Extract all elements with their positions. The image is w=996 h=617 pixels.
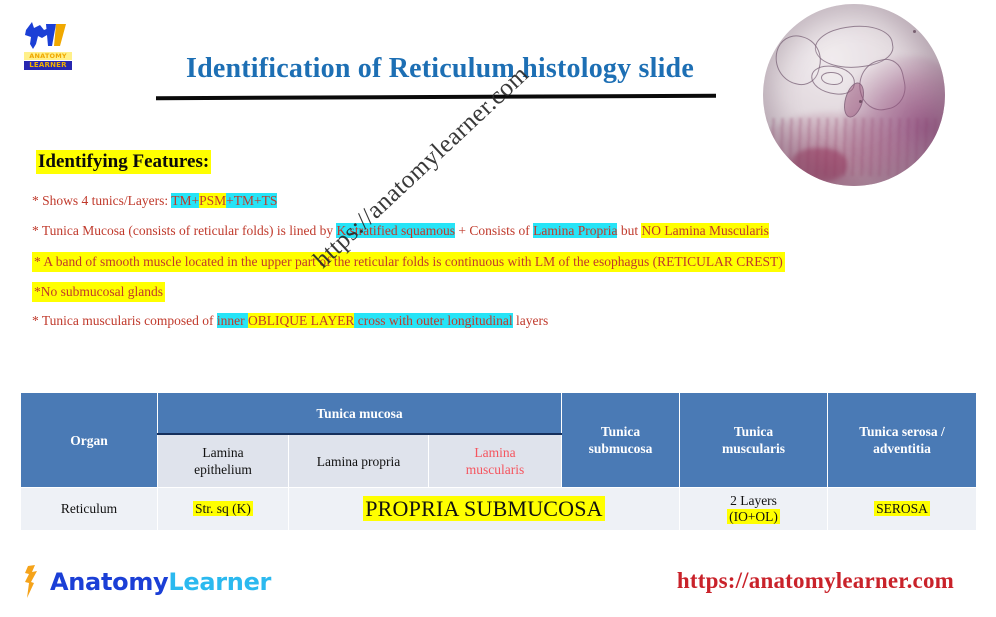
feature-segment-2-1: * Tunica Mucosa (consists of reticular f… xyxy=(32,223,336,238)
subheader-lamina-epithelium: Lamina epithelium xyxy=(158,434,289,488)
page-title: Identification of Reticulum histology sl… xyxy=(140,53,740,85)
header-organ: Organ xyxy=(21,393,158,488)
footer-logo-anatomy: Anatomy xyxy=(50,568,168,596)
cell-lamina-epithelium: Str. sq (K) xyxy=(158,488,289,531)
feature-segment-5-1: * Tunica muscularis composed of xyxy=(32,313,217,328)
cell-organ: Reticulum xyxy=(21,488,158,531)
header-tunica-serosa-adventitia: Tunica serosa / adventitia xyxy=(828,393,977,488)
feature-segment-2-2: K stratified squamous xyxy=(336,223,454,238)
brand-logo[interactable]: ANATOMY LEARNER xyxy=(16,16,72,74)
feature-line-2: * Tunica Mucosa (consists of reticular f… xyxy=(32,222,769,240)
table-header-row-1: Organ Tunica mucosa Tunica submucosa Tun… xyxy=(21,393,977,435)
feature-line-4: *No submucosal glands xyxy=(32,282,165,302)
header-tunica-mucosa: Tunica mucosa xyxy=(158,393,562,435)
table-row: Reticulum Str. sq (K) PROPRIA SUBMUCOSA … xyxy=(21,488,977,531)
feature-segment-1-2: TM+ xyxy=(171,193,199,208)
cow-silhouette-icon xyxy=(16,16,72,56)
feature-segment-1-4: +TM+TS xyxy=(226,193,277,208)
feature-line-1: * Shows 4 tunics/Layers: TM+PSM+TM+TS xyxy=(32,192,277,210)
footer-logo-mark-icon xyxy=(22,564,48,600)
brand-logo-word-anatomy: ANATOMY xyxy=(24,52,72,60)
header-tunica-serosa-line2: adventitia xyxy=(828,440,976,457)
feature-segment-2-6: NO Lamina Muscularis xyxy=(641,223,768,238)
reticulum-histology-image xyxy=(763,4,945,186)
footer-brand-logo[interactable]: AnatomyLearner xyxy=(22,562,271,602)
header-tunica-submucosa-line1: Tunica xyxy=(562,423,679,440)
cell-lamina-epithelium-value: Str. sq (K) xyxy=(193,501,253,516)
feature-segment-2-3: + Consists of xyxy=(455,223,533,238)
feature-segment-4-1: *No submucosal glands xyxy=(34,284,163,299)
subheader-lamina-epithelium-line2: epithelium xyxy=(158,461,288,478)
header-tunica-submucosa: Tunica submucosa xyxy=(562,393,680,488)
cell-tunica-muscularis-line2: (IO+OL) xyxy=(727,509,780,524)
brand-logo-word-learner: LEARNER xyxy=(24,61,72,70)
subheader-lamina-epithelium-line1: Lamina xyxy=(158,444,288,461)
feature-segment-5-5: layers xyxy=(513,313,549,328)
subheader-lamina-muscularis-line1: Lamina xyxy=(429,444,561,461)
feature-segment-2-5: but xyxy=(617,223,641,238)
footer-logo-learner: Learner xyxy=(168,568,271,596)
slide-vignette xyxy=(763,4,945,186)
cell-propria-submucosa-value: PROPRIA SUBMUCOSA xyxy=(363,496,605,521)
cell-tunica-muscularis-line2-wrap: (IO+OL) xyxy=(680,509,827,525)
subheader-lamina-propria: Lamina propria xyxy=(289,434,429,488)
feature-segment-2-4: Lamina Propria xyxy=(533,223,617,238)
feature-line-5: * Tunica muscularis composed of inner OB… xyxy=(32,312,548,330)
header-tunica-muscularis-line2: muscularis xyxy=(680,440,827,457)
subheader-lamina-muscularis-line2: muscularis xyxy=(429,461,561,478)
feature-segment-1-3: PSM xyxy=(199,193,226,208)
cell-tunica-serosa: SEROSA xyxy=(828,488,977,531)
cell-tunica-muscularis-line1: 2 Layers xyxy=(680,493,827,509)
cell-tunica-serosa-value: SEROSA xyxy=(874,501,930,516)
header-tunica-muscularis: Tunica muscularis xyxy=(680,393,828,488)
tunic-summary-table: Organ Tunica mucosa Tunica submucosa Tun… xyxy=(20,392,977,531)
cell-tunica-muscularis: 2 Layers (IO+OL) xyxy=(680,488,828,531)
header-tunica-muscularis-line1: Tunica xyxy=(680,423,827,440)
feature-segment-3-1: * A band of smooth muscle located in the… xyxy=(34,254,783,269)
header-tunica-serosa-line1: Tunica serosa / xyxy=(828,423,976,440)
cell-propria-submucosa: PROPRIA SUBMUCOSA xyxy=(289,488,680,531)
subheader-lamina-muscularis: Lamina muscularis xyxy=(429,434,562,488)
feature-line-3: * A band of smooth muscle located in the… xyxy=(32,252,785,272)
feature-segment-1-1: * Shows 4 tunics/Layers: xyxy=(32,193,171,208)
feature-segment-5-2: inner xyxy=(217,313,248,328)
features-heading: Identifying Features: xyxy=(36,150,211,174)
feature-segment-5-3: OBLIQUE LAYER xyxy=(248,313,354,328)
page-footer: AnatomyLearner https://anatomylearner.co… xyxy=(0,556,996,617)
feature-segment-5-4: cross with outer longitudinal xyxy=(354,313,512,328)
header-tunica-submucosa-line2: submucosa xyxy=(562,440,679,457)
title-underline-rule xyxy=(156,94,716,100)
footer-url[interactable]: https://anatomylearner.com xyxy=(677,568,954,594)
